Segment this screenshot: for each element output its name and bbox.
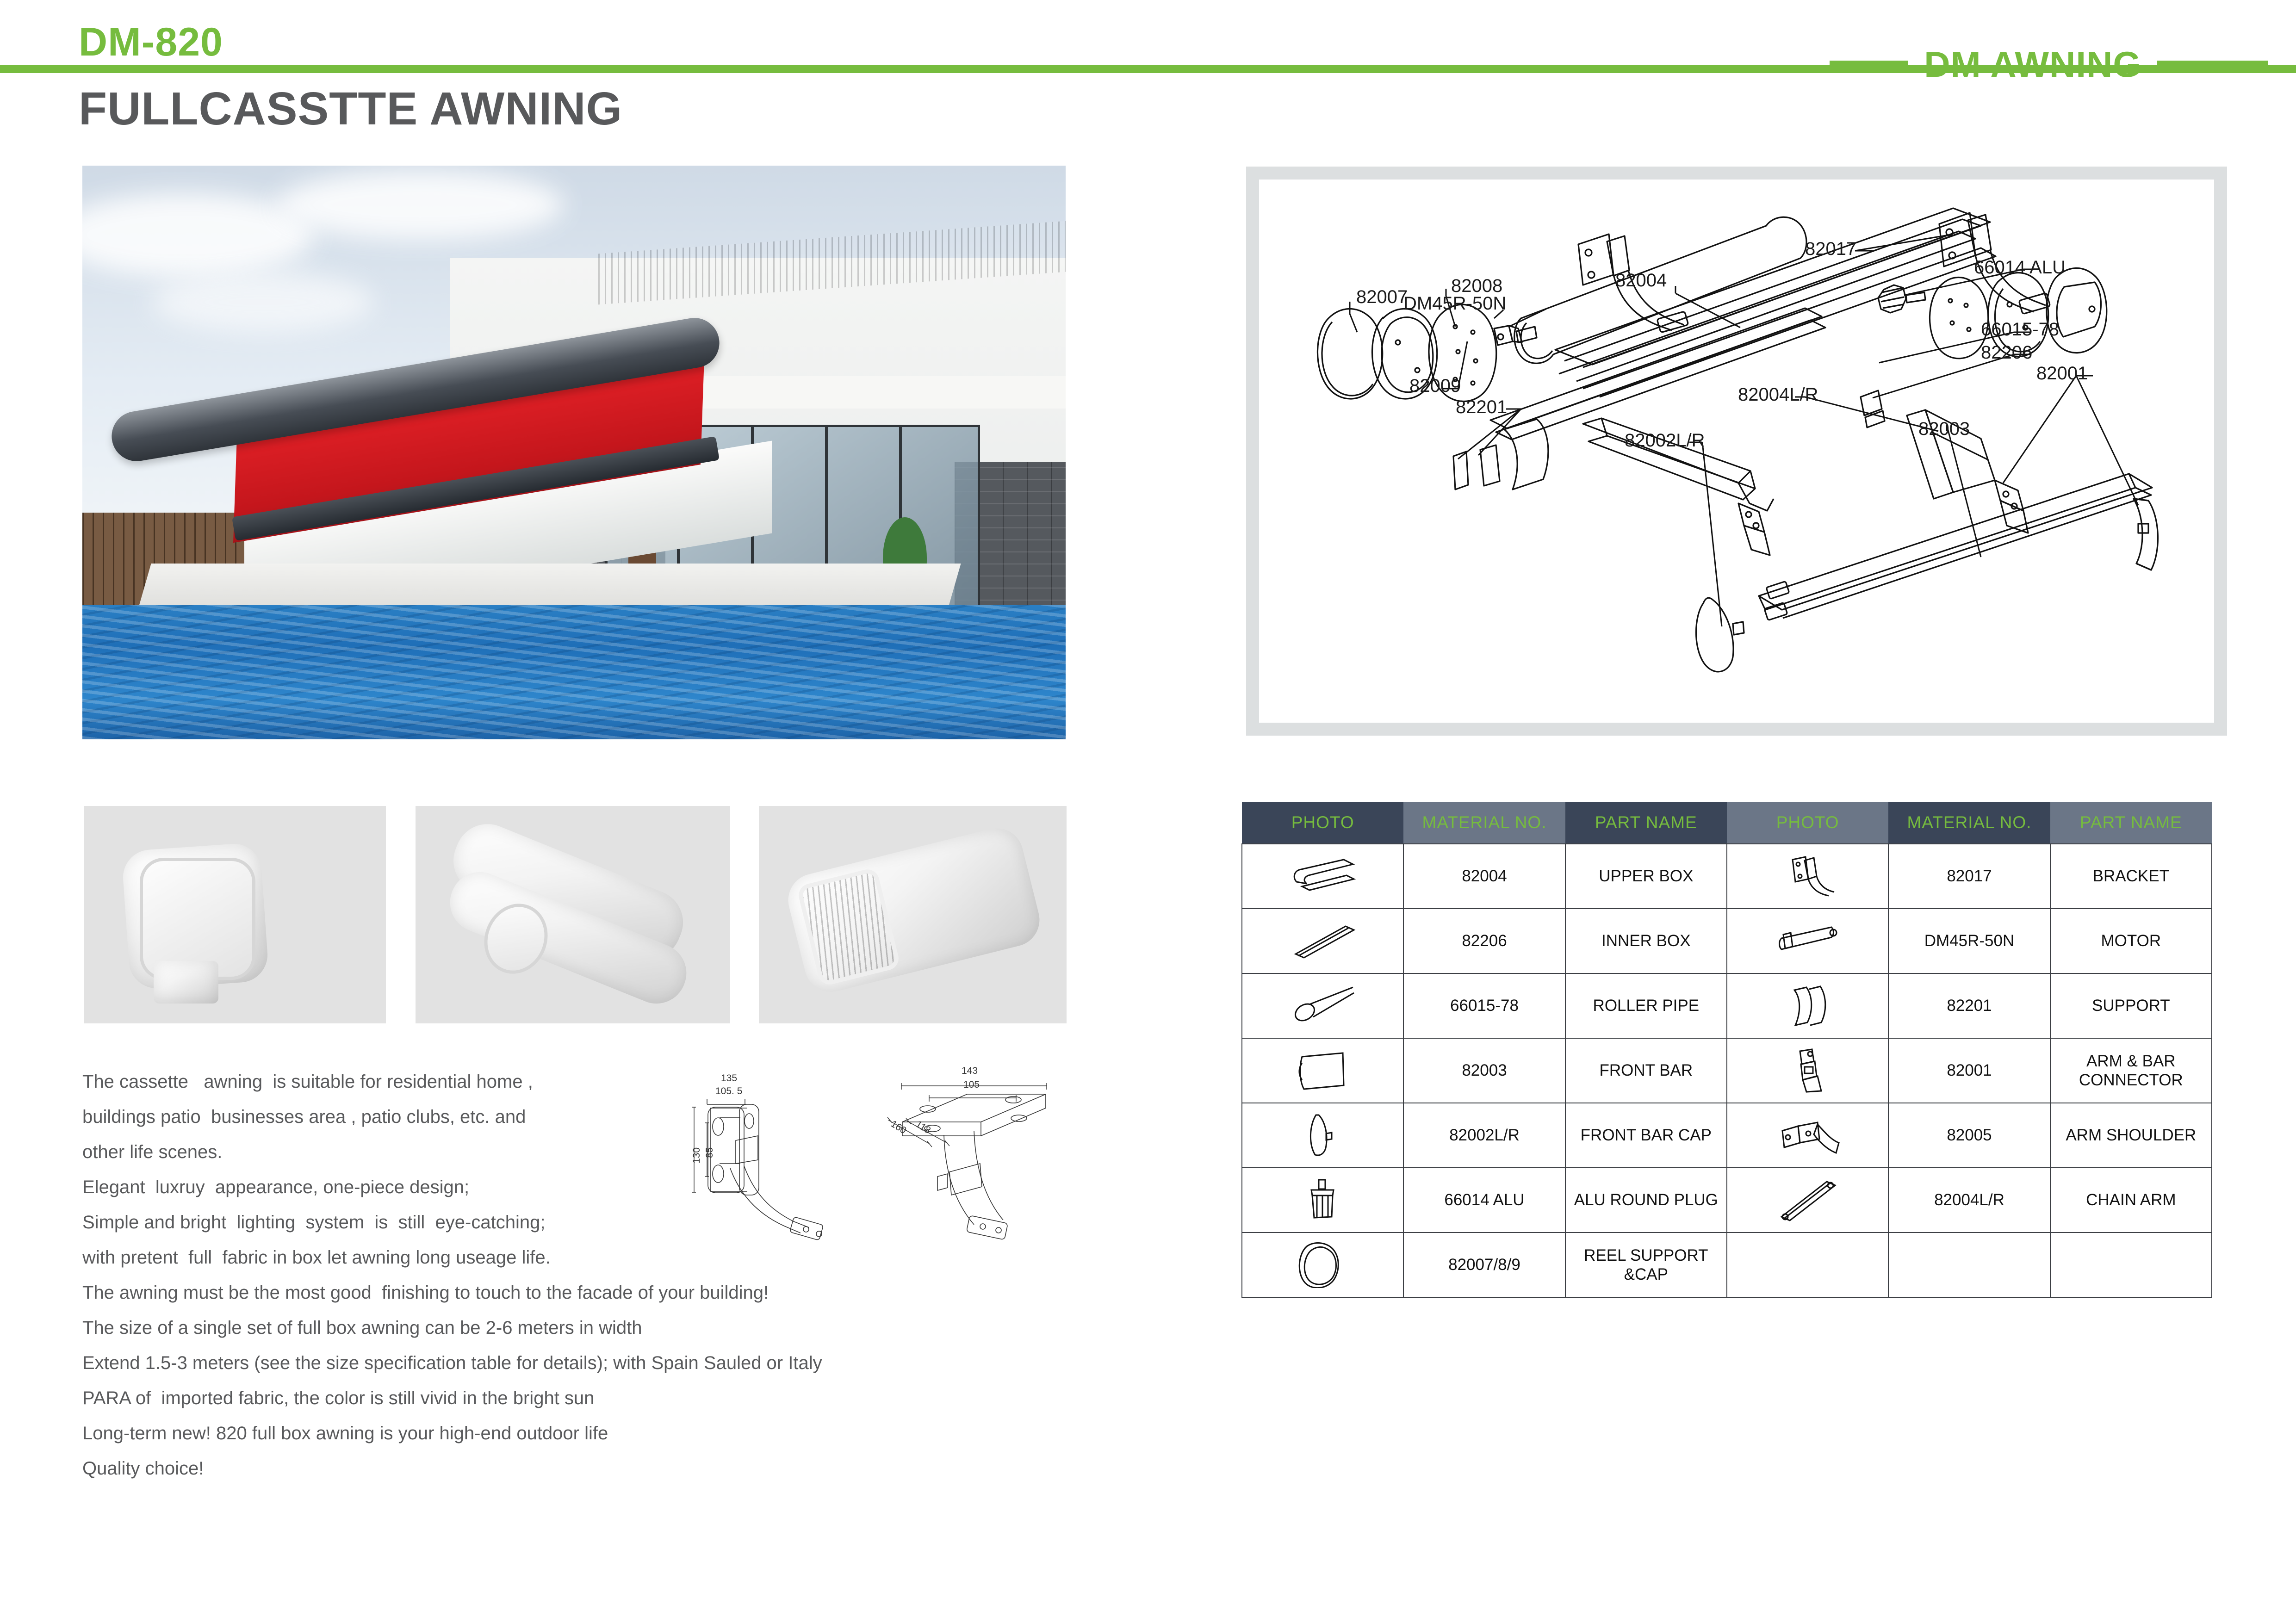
part-label-82003: 82003 (1918, 419, 1970, 440)
part-name: FRONT BAR (1565, 1038, 1727, 1103)
support-icon (1727, 973, 1888, 1038)
bracket-top-view-drawing: 143 105 160 118 (875, 1053, 1060, 1284)
material-no: 82007/8/9 (1403, 1233, 1565, 1297)
front-bar-icon (1242, 1038, 1403, 1103)
th-partname-right: PART NAME (2050, 802, 2212, 844)
th-photo-right: PHOTO (1727, 802, 1888, 844)
reel-support-cap-icon (1242, 1233, 1403, 1297)
dim-105-5: 105. 5 (715, 1086, 742, 1097)
bracket-dimension-drawings: 135 105. 5 130 85 (685, 1053, 1069, 1284)
material-no: 66014 ALU (1403, 1168, 1565, 1233)
table-row: 82002L/R FRONT BAR CAP 82005 ARM SHOULDE… (1242, 1103, 2212, 1168)
part-name-text: ARM & BAR CONNECTOR (2051, 1052, 2211, 1090)
material-no: 82004L/R (1888, 1168, 2050, 1233)
part-name-text: ALU ROUND PLUG (1566, 1190, 1726, 1209)
detail-photo-cassette-end-cap-closed (84, 806, 386, 1023)
arm-bar-connector-icon (1727, 1038, 1888, 1103)
part-name: SUPPORT (2050, 973, 2212, 1038)
brand-dash-left (1830, 61, 1908, 68)
part-name: ROLLER PIPE (1565, 973, 1727, 1038)
exploded-assembly-svg (1259, 180, 2214, 723)
th-photo-left: PHOTO (1242, 802, 1403, 844)
table-row: 82007/8/9 REEL SUPPORT &CAP (1242, 1233, 2212, 1297)
part-name: INNER BOX (1565, 909, 1727, 973)
th-material-right: MATERIAL NO. (1888, 802, 2050, 844)
empty-partname-cell (2050, 1233, 2212, 1297)
chain-arm-icon (1727, 1168, 1888, 1233)
dim-135: 135 (721, 1073, 737, 1084)
part-name: BRACKET (2050, 844, 2212, 909)
part-label-82007: 82007 (1356, 287, 1408, 308)
table-row: 66014 ALU ALU ROUND PLUG 82004L/R CHAIN … (1242, 1168, 2212, 1233)
dim-143: 143 (962, 1065, 978, 1077)
dim-130: 130 (691, 1147, 702, 1164)
material-no: 82002L/R (1403, 1103, 1565, 1168)
desc-line: PARA of imported fabric, the color is st… (82, 1381, 1082, 1416)
model-code: DM-820 (79, 22, 223, 62)
empty-photo-cell (1727, 1233, 1888, 1297)
front-bar-cap-icon (1242, 1103, 1403, 1168)
part-name: MOTOR (2050, 909, 2212, 973)
part-label-dm45r-50n: DM45R-50N (1403, 293, 1506, 314)
part-name: REEL SUPPORT &CAP (1565, 1233, 1727, 1297)
bracket-side-view-drawing: 135 105. 5 130 85 (685, 1053, 870, 1284)
table-row: 82206 INNER BOX DM45R-50N MOTOR (1242, 909, 2212, 973)
motor-icon (1727, 909, 1888, 973)
table-row: 66015-78 ROLLER PIPE 82201 SUPPORT (1242, 973, 2212, 1038)
bracket-icon (1727, 844, 1888, 909)
hero-product-photo (82, 166, 1066, 739)
dim-85: 85 (704, 1147, 715, 1158)
material-no: 82005 (1888, 1103, 2050, 1168)
brand-name: DM AWNING (1924, 46, 2141, 82)
cloud (277, 170, 564, 240)
part-name: ARM SHOULDER (2050, 1103, 2212, 1168)
empty-material-cell (1888, 1233, 2050, 1297)
page-header: DM-820 FULLCASSTTE AWNING DM AWNING (0, 0, 2296, 153)
part-name-text: REEL SUPPORT &CAP (1566, 1246, 1726, 1284)
detail-photo-cassette-open-chain (416, 806, 730, 1023)
page-title: FULLCASSTTE AWNING (79, 86, 622, 132)
desc-line: Long-term new! 820 full box awning is yo… (82, 1416, 1082, 1451)
part-label-82002lr: 82002L/R (1625, 430, 1705, 451)
part-label-82206: 82206 (1981, 342, 2032, 363)
part-label-66015-78: 66015-78 (1981, 319, 2059, 340)
part-name-text: FRONT BAR CAP (1566, 1126, 1726, 1145)
bracket-side-view-svg (685, 1053, 870, 1284)
part-label-82001: 82001 (2036, 363, 2088, 384)
part-name: ALU ROUND PLUG (1565, 1168, 1727, 1233)
table-row: 82004 UPPER BOX 82017 BRACKET (1242, 844, 2212, 909)
detail-photo-cassette-wood-grain-cap (759, 806, 1067, 1023)
material-no: 82003 (1403, 1038, 1565, 1103)
parts-table: PHOTO MATERIAL NO. PART NAME PHOTO MATER… (1241, 802, 2212, 1298)
material-no: 82206 (1403, 909, 1565, 973)
parts-table-header: PHOTO MATERIAL NO. PART NAME PHOTO MATER… (1242, 802, 2212, 844)
part-label-82009: 82009 (1409, 376, 1461, 396)
brand-logo: DM AWNING (1830, 46, 2268, 82)
desc-line: Quality choice! (82, 1451, 1082, 1486)
part-name: CHAIN ARM (2050, 1168, 2212, 1233)
th-partname-left: PART NAME (1565, 802, 1727, 844)
material-no: DM45R-50N (1888, 909, 2050, 973)
desc-line: The size of a single set of full box awn… (82, 1310, 1082, 1345)
inner-box-icon (1242, 909, 1403, 973)
part-name: FRONT BAR CAP (1565, 1103, 1727, 1168)
part-name: UPPER BOX (1565, 844, 1727, 909)
part-name: ARM & BAR CONNECTOR (2050, 1038, 2212, 1103)
part-label-66014-alu: 66014 ALU (1974, 257, 2066, 278)
table-header-row: PHOTO MATERIAL NO. PART NAME PHOTO MATER… (1242, 802, 2212, 844)
alu-round-plug-icon (1242, 1168, 1403, 1233)
material-no: 82201 (1888, 973, 2050, 1038)
upper-box-icon (1242, 844, 1403, 909)
th-material-left: MATERIAL NO. (1403, 802, 1565, 844)
dim-105: 105 (963, 1079, 980, 1090)
part-label-82017: 82017 (1805, 239, 1856, 260)
cloud (152, 272, 374, 332)
part-label-82201: 82201 (1456, 397, 1507, 418)
brand-dash-right (2157, 61, 2268, 68)
desc-line: Extend 1.5-3 meters (see the size specif… (82, 1345, 1082, 1381)
exploded-diagram-canvas: 82007 82008 DM45R-50N 82004 82017 66014 … (1259, 180, 2214, 723)
parts-table-body: 82004 UPPER BOX 82017 BRACKET 82206 INNE… (1242, 844, 2212, 1297)
swimming-pool (82, 605, 1066, 739)
part-label-82004lr: 82004L/R (1738, 384, 1818, 405)
material-no: 82004 (1403, 844, 1565, 909)
material-no: 82001 (1888, 1038, 2050, 1103)
part-label-82004: 82004 (1615, 270, 1667, 291)
arm-shoulder-icon (1727, 1103, 1888, 1168)
roller-pipe-icon (1242, 973, 1403, 1038)
exploded-diagram-panel: 82007 82008 DM45R-50N 82004 82017 66014 … (1246, 167, 2227, 736)
material-no: 82017 (1888, 844, 2050, 909)
table-row: 82003 FRONT BAR 82001 ARM & BAR CONNECTO… (1242, 1038, 2212, 1103)
material-no: 66015-78 (1403, 973, 1565, 1038)
